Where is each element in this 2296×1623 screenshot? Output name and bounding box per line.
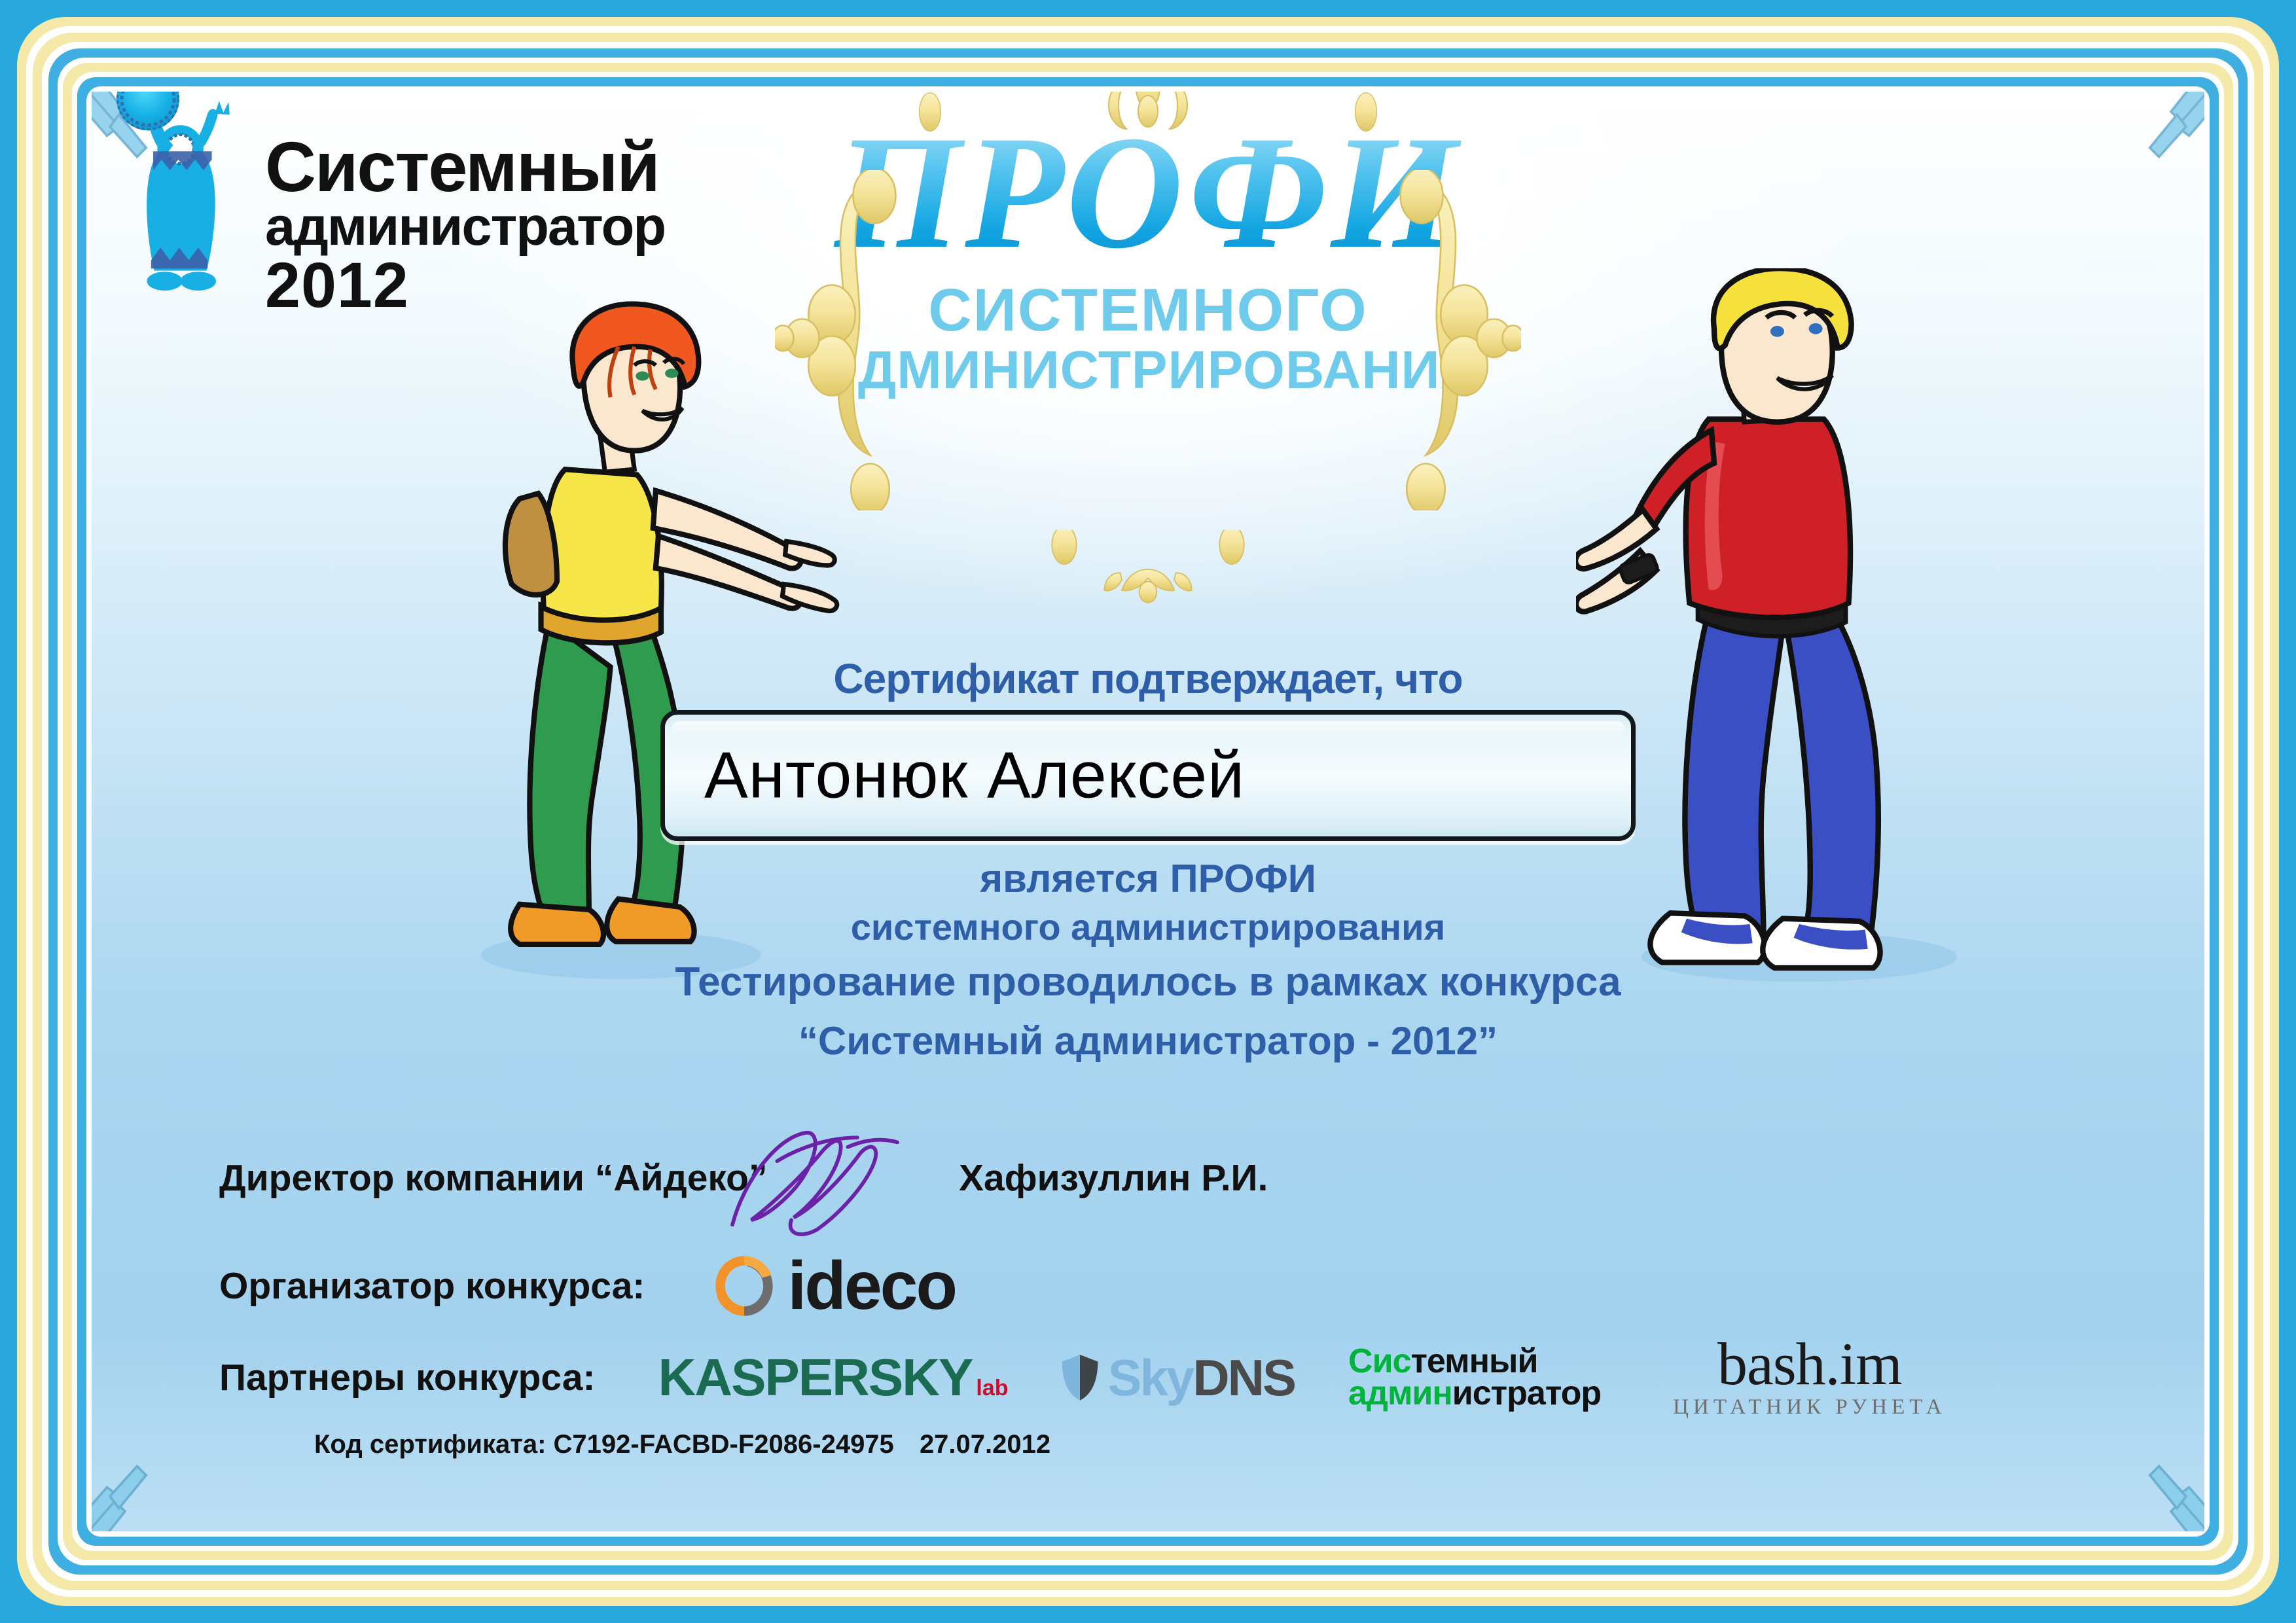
kaspersky-lab-suffix: lab xyxy=(976,1377,1008,1399)
gold-dot-icon xyxy=(918,92,942,132)
sysadmin-partner-green-2: админ xyxy=(1348,1374,1452,1412)
ideco-logo: ideco xyxy=(710,1252,956,1320)
certificate-body-text: является ПРОФИ системного администрирова… xyxy=(559,854,1737,1070)
sysadmin-logo-line2: администратор xyxy=(265,199,592,253)
recipient-name-plaque: Антонюк Алексей xyxy=(660,710,1636,841)
body-line-2: системного администрирования xyxy=(559,903,1737,952)
recipient-name: Антонюк Алексей xyxy=(704,738,1245,813)
sysadmin-logo-line1: Системный xyxy=(265,134,592,199)
crimping-tool-icon xyxy=(92,1454,170,1531)
eskimo-mascot-icon xyxy=(105,92,275,327)
skydns-dns-text: DNS xyxy=(1193,1352,1295,1403)
organizer-row: Организатор конкурса: ideco xyxy=(219,1243,1528,1329)
gold-ornament-top-icon xyxy=(1050,92,1246,143)
sysadmin-partner-black-2: истратор xyxy=(1452,1374,1601,1412)
handwritten-signature-icon xyxy=(707,1121,923,1239)
partners-label: Партнеры конкурса: xyxy=(219,1356,596,1399)
signature-row: Директор компании “Айдеко” Хафизуллин Р.… xyxy=(219,1142,1463,1227)
skydns-sky-text: Sky xyxy=(1108,1352,1193,1403)
gold-ornament-right-icon xyxy=(1390,170,1521,510)
body-line-3: Тестирование проводилось в рамках конкур… xyxy=(559,952,1737,1013)
skydns-logo: Sky DNS xyxy=(1060,1352,1295,1403)
bashim-wordmark: bash.im xyxy=(1673,1336,1946,1393)
sysadmin-magazine-logo: Системный администратор xyxy=(1348,1346,1601,1410)
partners-row: Партнеры конкурса: KASPERSKY lab Sky DNS… xyxy=(219,1329,2204,1427)
kaspersky-logo: KASPERSKY lab xyxy=(658,1351,1009,1404)
body-line-1: является ПРОФИ xyxy=(559,854,1737,903)
sysadmin-partner-row1: Системный xyxy=(1348,1346,1601,1378)
certificate-code-line: Код сертификата: C7192-FACBD-F2086-24975… xyxy=(314,1430,1050,1459)
issue-date: 27.07.2012 xyxy=(920,1430,1050,1459)
sysadmin-partner-row2: администратор xyxy=(1348,1378,1601,1410)
ideco-swirl-icon xyxy=(710,1252,778,1320)
confirm-line: Сертификат подтверждает, что xyxy=(592,654,1704,703)
organizer-label: Организатор конкурса: xyxy=(219,1264,645,1308)
skydns-shield-icon xyxy=(1060,1353,1100,1402)
gold-ornament-bottom-icon xyxy=(1043,530,1253,609)
kaspersky-wordmark: KASPERSKY xyxy=(658,1351,973,1404)
certificate-canvas: Системный администратор 2012 xyxy=(92,92,2204,1531)
ideco-wordmark: ideco xyxy=(787,1252,956,1320)
body-line-4: “Системный администратор - 2012” xyxy=(559,1013,1737,1069)
crimping-tool-icon xyxy=(2126,1454,2204,1531)
code-label: Код сертификата: xyxy=(314,1430,546,1459)
code-value: C7192-FACBD-F2086-24975 xyxy=(554,1430,894,1459)
bashim-tagline: ЦИТАТНИК РУНЕТА xyxy=(1673,1395,1946,1419)
director-label: Директор компании “Айдеко” xyxy=(219,1156,768,1200)
bashim-logo: bash.im ЦИТАТНИК РУНЕТА xyxy=(1673,1336,1946,1419)
crimping-tool-icon xyxy=(2126,92,2204,169)
gold-dot-icon xyxy=(1354,92,1378,132)
director-name: Хафизуллин Р.И. xyxy=(959,1156,1268,1200)
